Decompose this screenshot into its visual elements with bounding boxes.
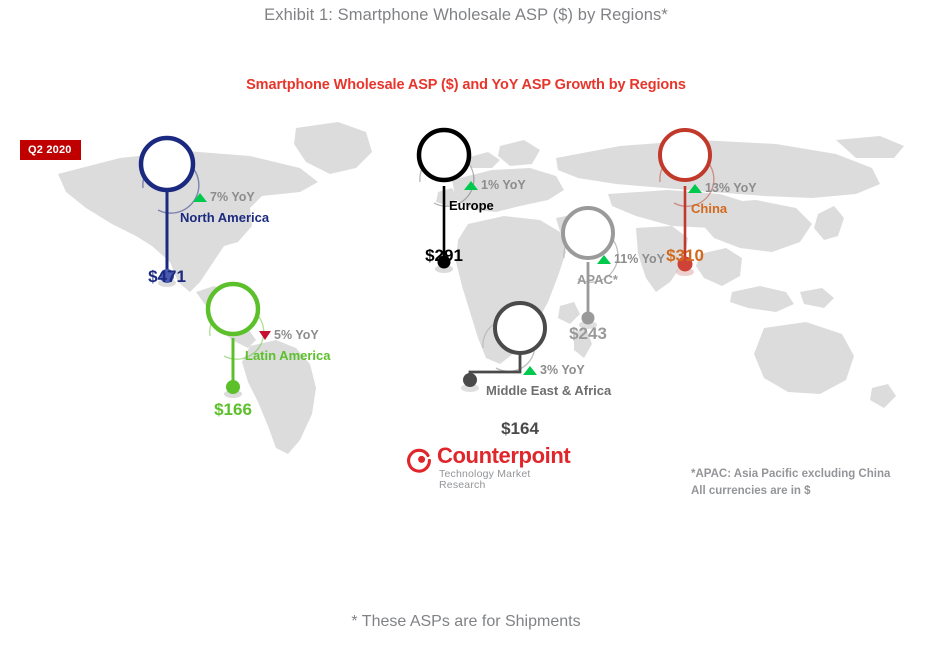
europe-growth: 1% YoY: [464, 179, 526, 192]
latin-america-pin-icon: [182, 272, 342, 412]
growth-up-icon: [597, 255, 611, 264]
growth-up-icon: [464, 181, 478, 190]
middle-east-africa-label: Middle East & Africa: [486, 384, 611, 397]
exhibit-title: Exhibit 1: Smartphone Wholesale ASP ($) …: [0, 6, 932, 25]
china-growth: 13% YoY: [688, 182, 757, 195]
footnote: *APAC: Asia Pacific excluding China All …: [691, 466, 890, 499]
china-label: China: [691, 202, 727, 215]
bottom-note: * These ASPs are for Shipments: [0, 613, 932, 631]
counterpoint-c-icon: [406, 447, 432, 473]
counterpoint-logo: Counterpoint Technology Market Research: [406, 444, 576, 484]
north-america-growth: 7% YoY: [193, 191, 255, 204]
growth-down-icon: [259, 331, 271, 340]
latin-america-growth: 5% YoY: [259, 329, 319, 342]
logo-tagline: Technology Market Research: [439, 469, 576, 490]
north-america-label: North America: [180, 211, 269, 224]
europe-value: $291: [411, 247, 477, 264]
footnote-line-2: All currencies are in $: [691, 483, 890, 500]
china-value: $310: [652, 247, 718, 264]
growth-up-icon: [688, 184, 702, 193]
middle-east-africa-growth: 3% YoY: [523, 364, 585, 377]
apac-label: APAC*: [577, 273, 618, 286]
infographic-canvas: Exhibit 1: Smartphone Wholesale ASP ($) …: [0, 0, 932, 651]
latin-america-value: $166: [200, 401, 266, 418]
growth-up-icon: [523, 366, 537, 375]
footnote-line-1: *APAC: Asia Pacific excluding China: [691, 466, 890, 483]
europe-label: Europe: [449, 199, 494, 212]
logo-wordmark: Counterpoint: [437, 445, 570, 467]
middle-east-africa-value: $164: [487, 420, 553, 437]
chart-title: Smartphone Wholesale ASP ($) and YoY ASP…: [0, 77, 932, 93]
latin-america-label: Latin America: [245, 349, 331, 362]
growth-up-icon: [193, 193, 207, 202]
